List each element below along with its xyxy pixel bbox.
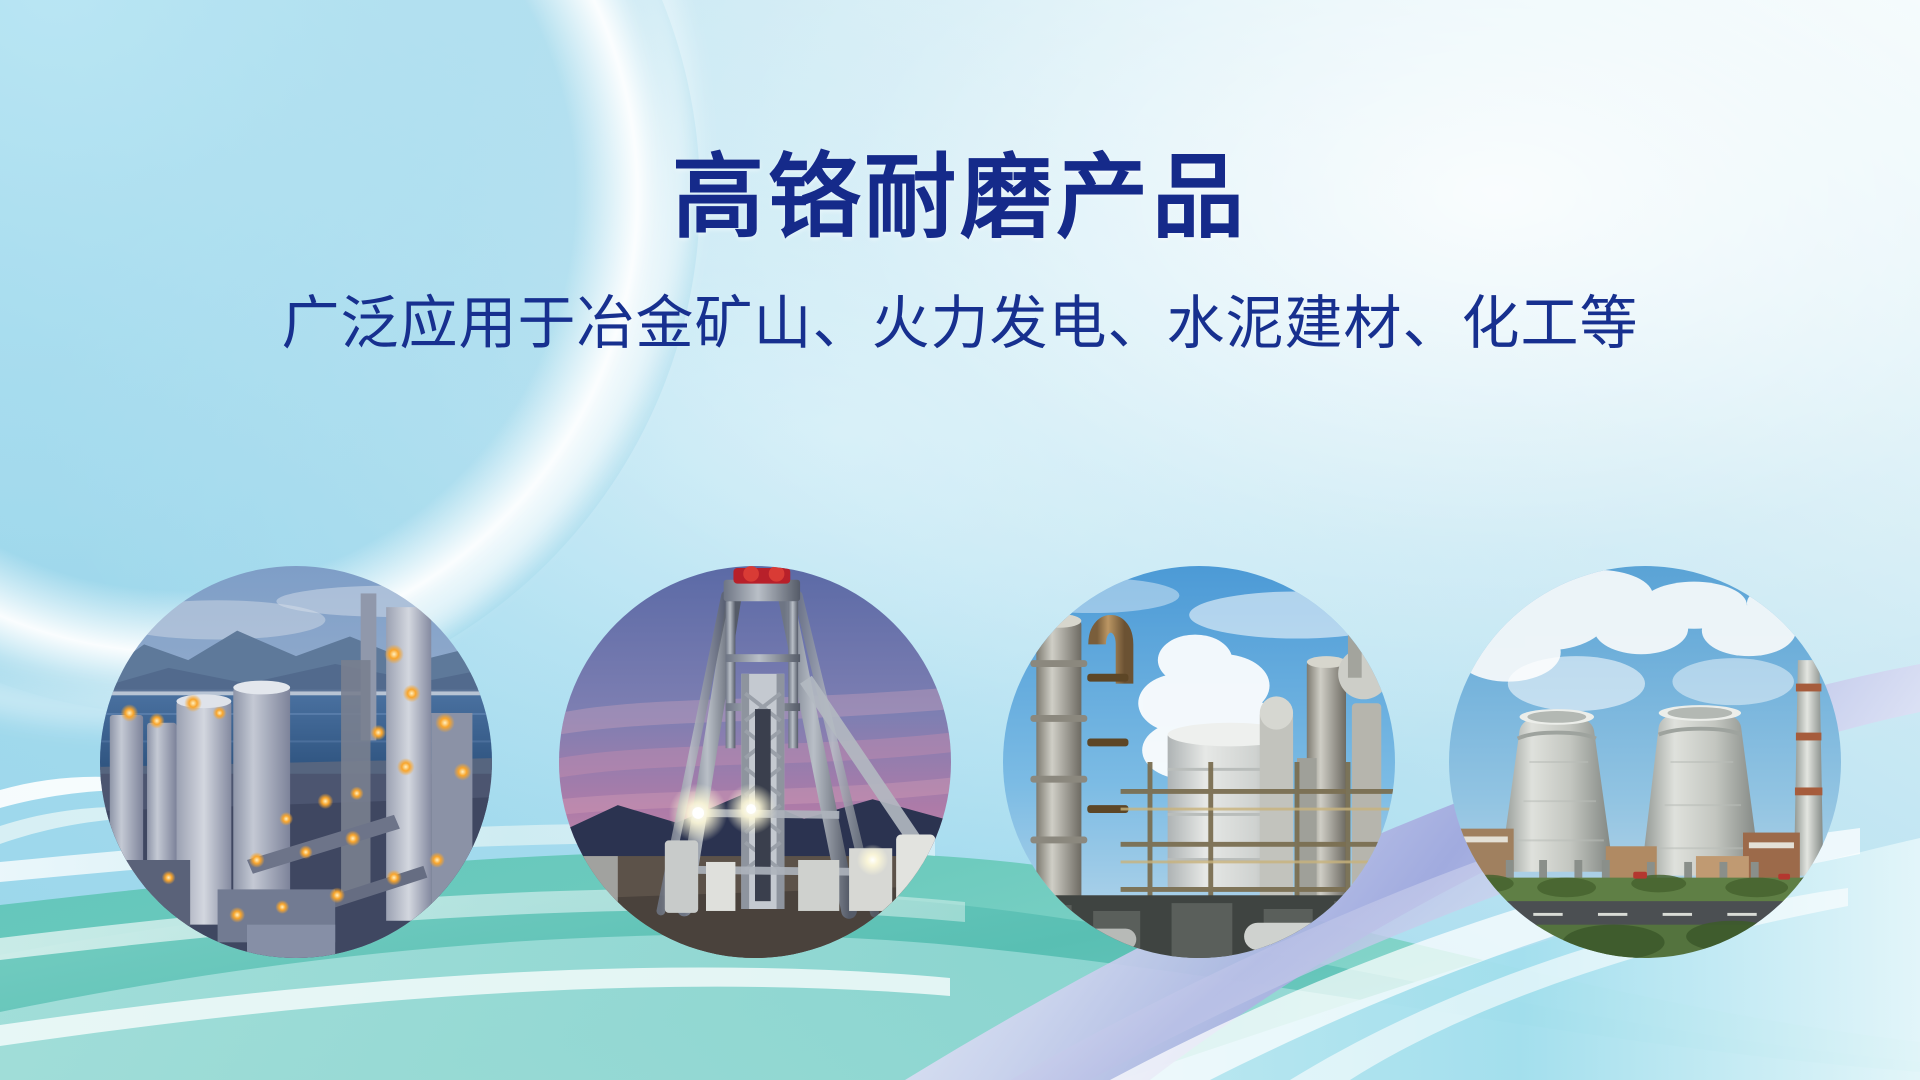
power-plant-photo	[1449, 566, 1841, 958]
industry-photo-1[interactable]	[100, 566, 492, 958]
industry-photo-3[interactable]	[1003, 566, 1395, 958]
industry-photo-2[interactable]	[559, 566, 951, 958]
chemical-refinery-photo	[1003, 566, 1395, 958]
cement-plant-photo	[100, 566, 492, 958]
industry-photo-4[interactable]	[1449, 566, 1841, 958]
mine-headframe-photo	[559, 566, 951, 958]
industry-banner: 高铬耐磨产品 广泛应用于冶金矿山、火力发电、水泥建材、化工等	[0, 0, 1920, 1080]
